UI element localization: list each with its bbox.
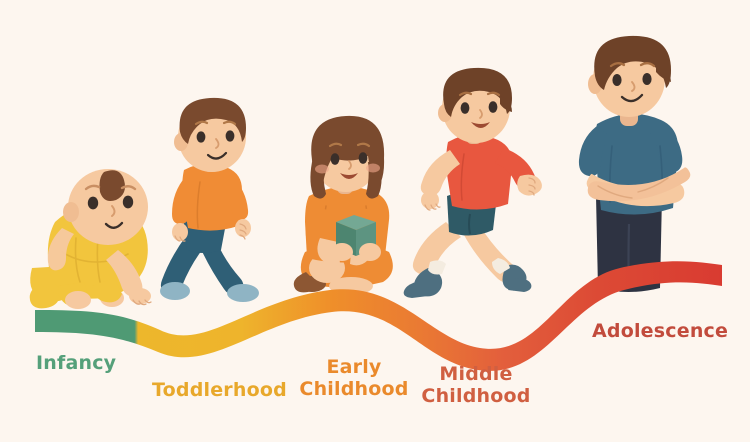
stage-label-toddlerhood: Toddlerhood xyxy=(152,379,287,401)
stage-label-adolescence: Adolescence xyxy=(592,320,728,342)
stage-label-early-childhood: Early Childhood xyxy=(299,356,409,400)
stage-label-infancy: Infancy xyxy=(36,352,116,374)
infographic-canvas: Infancy Toddlerhood Early Childhood Midd… xyxy=(0,0,750,442)
boy-shirt xyxy=(446,134,512,209)
stage-label-middle-childhood: Middle Childhood xyxy=(420,363,532,407)
